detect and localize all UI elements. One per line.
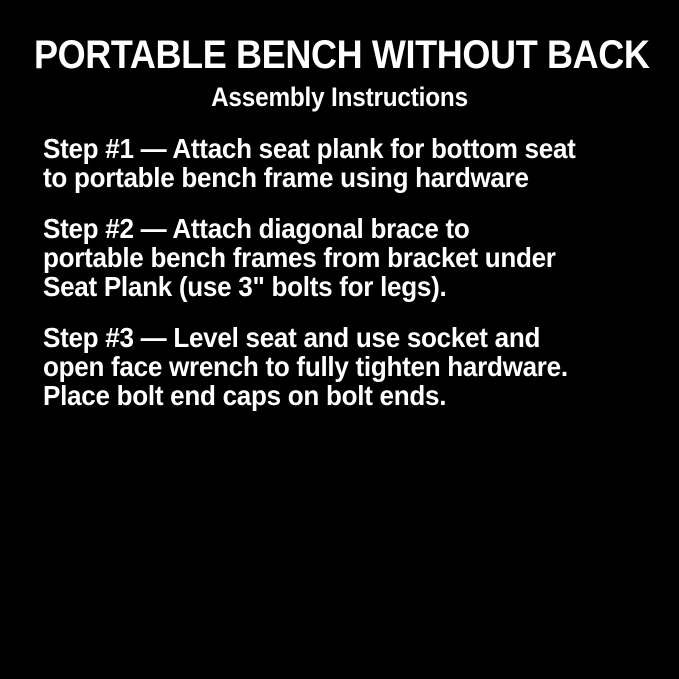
step-item-2: Step #2 — Attach diagonal brace to porta… xyxy=(43,214,665,301)
step-3-line-3: Place bolt end caps on bolt ends. xyxy=(43,381,621,410)
step-item-1: Step #1 — Attach seat plank for bottom s… xyxy=(43,134,665,192)
step-3-line-1: Step #3 — Level seat and use socket and xyxy=(43,323,621,352)
poster-header: PORTABLE BENCH WITHOUT BACK Assembly Ins… xyxy=(0,0,679,112)
step-1-line-2: to portable bench frame using hardware xyxy=(43,163,621,192)
step-3-line-2: open face wrench to fully tighten hardwa… xyxy=(43,352,621,381)
instruction-poster: PORTABLE BENCH WITHOUT BACK Assembly Ins… xyxy=(0,0,679,679)
step-item-3: Step #3 — Level seat and use socket and … xyxy=(43,323,665,410)
page-title: PORTABLE BENCH WITHOUT BACK xyxy=(34,34,645,76)
page-subtitle: Assembly Instructions xyxy=(34,82,645,112)
step-2-line-2: portable bench frames from bracket under xyxy=(43,243,621,272)
step-2-line-3: Seat Plank (use 3" bolts for legs). xyxy=(43,272,621,301)
step-1-line-1: Step #1 — Attach seat plank for bottom s… xyxy=(43,134,621,163)
steps-list: Step #1 — Attach seat plank for bottom s… xyxy=(0,134,679,410)
step-2-line-1: Step #2 — Attach diagonal brace to xyxy=(43,214,621,243)
